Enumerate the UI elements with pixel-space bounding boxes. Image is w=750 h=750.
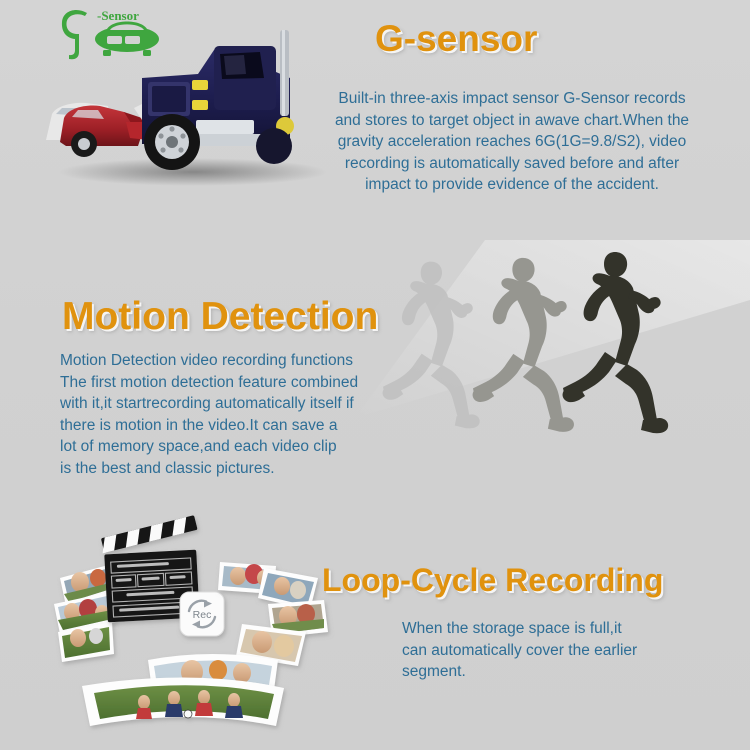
motion-detection-body-text: Motion Detection video recording functio… xyxy=(60,350,400,479)
section-motion-detection: Motion Detection Motion Detection video … xyxy=(0,235,750,490)
loop-cycle-body-text: When the storage space is full,it can au… xyxy=(402,618,692,683)
section-loop-cycle: Rec xyxy=(0,500,750,750)
photo-collage-loop: Rec xyxy=(52,520,352,735)
gsensor-body-text: Built-in three-axis impact sensor G-Sens… xyxy=(326,88,698,196)
section-gsensor: -Sensor xyxy=(0,0,750,225)
collage-photo-bottom-2 xyxy=(82,677,284,726)
motion-detection-heading: Motion Detection xyxy=(62,295,378,339)
rec-button-label: Rec xyxy=(193,609,212,621)
loop-cycle-heading: Loop-Cycle Recording xyxy=(322,562,663,599)
runner-silhouettes xyxy=(355,240,750,440)
gsensor-logo-wordmark: -Sensor xyxy=(97,8,139,23)
rec-loop-button: Rec xyxy=(180,592,224,636)
gsensor-heading: G-sensor xyxy=(375,18,537,60)
crash-photo xyxy=(38,22,338,190)
infographic-page: -Sensor xyxy=(0,0,750,750)
